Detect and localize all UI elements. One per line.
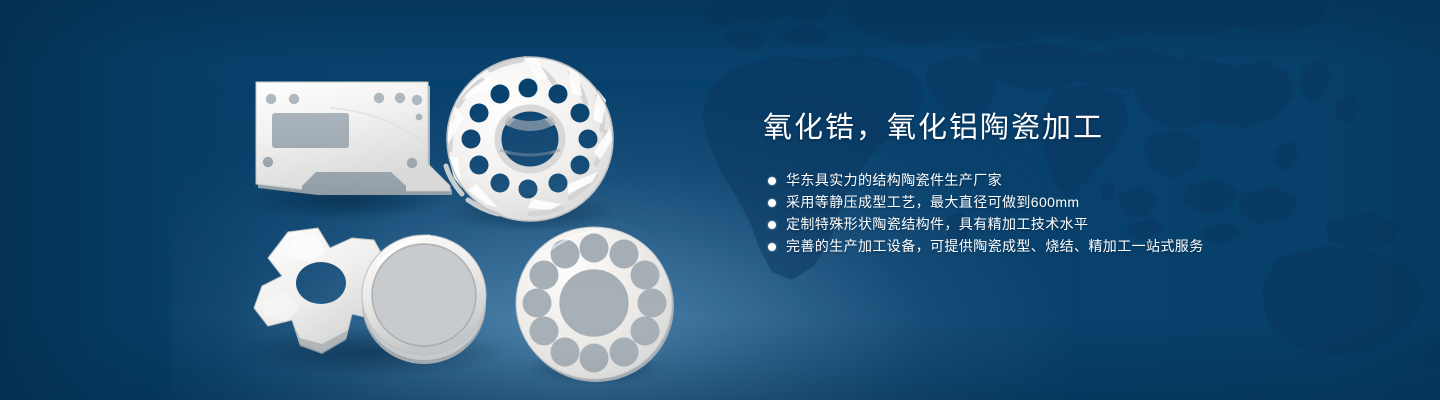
bullet-dot-icon bbox=[768, 177, 776, 185]
list-item-label: 华东具实力的结构陶瓷件生产厂家 bbox=[786, 172, 1002, 188]
bullet-dot-icon bbox=[768, 221, 776, 229]
banner-copy: 氧化锆，氧化铝陶瓷加工 华东具实力的结构陶瓷件生产厂家 采用等静压成型工艺，最大… bbox=[763, 108, 1363, 258]
ceramic-products-photo bbox=[0, 0, 720, 400]
bullet-dot-icon bbox=[768, 243, 776, 251]
ceramic-mounting-plate bbox=[256, 82, 452, 195]
ceramic-processing-banner: 氧化锆，氧化铝陶瓷加工 华东具实力的结构陶瓷件生产厂家 采用等静压成型工艺，最大… bbox=[0, 0, 1440, 400]
bullet-dot-icon bbox=[768, 199, 776, 207]
list-item-label: 完善的生产加工设备，可提供陶瓷成型、烧结、精加工一站式服务 bbox=[786, 238, 1204, 254]
ceramic-ring bbox=[362, 235, 486, 364]
list-item: 定制特殊形状陶瓷结构件，具有精加工技术水平 bbox=[763, 214, 1363, 236]
list-item-label: 定制特殊形状陶瓷结构件，具有精加工技术水平 bbox=[786, 216, 1088, 232]
list-item-label: 采用等静压成型工艺，最大直径可做到600mm bbox=[786, 194, 1079, 210]
feature-list: 华东具实力的结构陶瓷件生产厂家 采用等静压成型工艺，最大直径可做到600mm 定… bbox=[763, 170, 1363, 258]
impeller-hub bbox=[498, 108, 562, 170]
ceramic-impeller-disc bbox=[446, 56, 613, 221]
page-title: 氧化锆，氧化铝陶瓷加工 bbox=[763, 108, 1363, 148]
list-item: 华东具实力的结构陶瓷件生产厂家 bbox=[763, 170, 1363, 192]
list-item: 完善的生产加工设备，可提供陶瓷成型、烧结、精加工一站式服务 bbox=[763, 236, 1363, 258]
list-item: 采用等静压成型工艺，最大直径可做到600mm bbox=[763, 192, 1363, 214]
